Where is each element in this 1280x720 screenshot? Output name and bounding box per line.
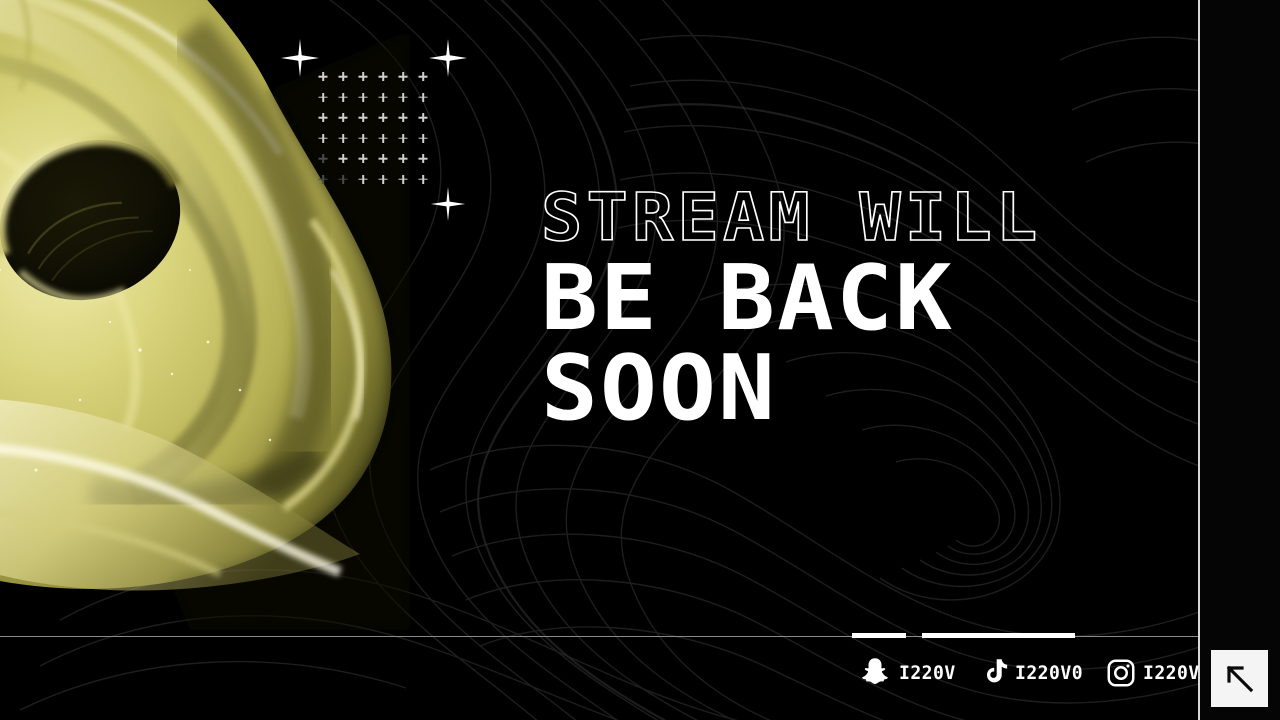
- headline-line-2: BE BACK: [541, 255, 1213, 343]
- arrow-up-left-icon: [1224, 663, 1256, 695]
- tiktok-icon: [981, 658, 1008, 688]
- sparkle-icon: [280, 38, 320, 78]
- social-handle-tiktok: I220V0: [1015, 662, 1083, 684]
- corner-arrow-badge[interactable]: [1211, 650, 1268, 707]
- accent-segment-long: [922, 633, 1075, 638]
- sparkle-icon: [428, 38, 468, 78]
- headline-line-1: STREAM WILL: [541, 186, 1207, 251]
- bottom-divider-line: [0, 636, 1280, 637]
- right-vertical-line: [1198, 0, 1200, 720]
- headline-block: STREAM WILL BE BACK SOON: [541, 186, 1181, 433]
- social-link-tiktok[interactable]: I220V0: [981, 658, 1087, 688]
- social-handle-snapchat: I220V: [899, 662, 956, 684]
- headline-line-3: SOON: [541, 345, 1213, 433]
- snapchat-icon: [858, 656, 892, 690]
- instagram-icon: [1106, 658, 1136, 688]
- social-handle-instagram: I220V: [1143, 662, 1200, 684]
- social-link-instagram[interactable]: I220V: [1106, 658, 1203, 688]
- accent-segment-short: [852, 633, 906, 638]
- plus-grid-decoration: [313, 70, 433, 193]
- stream-offline-screen: STREAM WILL BE BACK SOON I220V I220V0: [0, 0, 1280, 720]
- right-side-panel: [1200, 0, 1280, 720]
- social-links-bar: I220V I220V0 I220V: [858, 652, 1203, 694]
- social-link-snapchat[interactable]: I220V: [858, 656, 959, 690]
- sparkle-icon: [430, 186, 466, 222]
